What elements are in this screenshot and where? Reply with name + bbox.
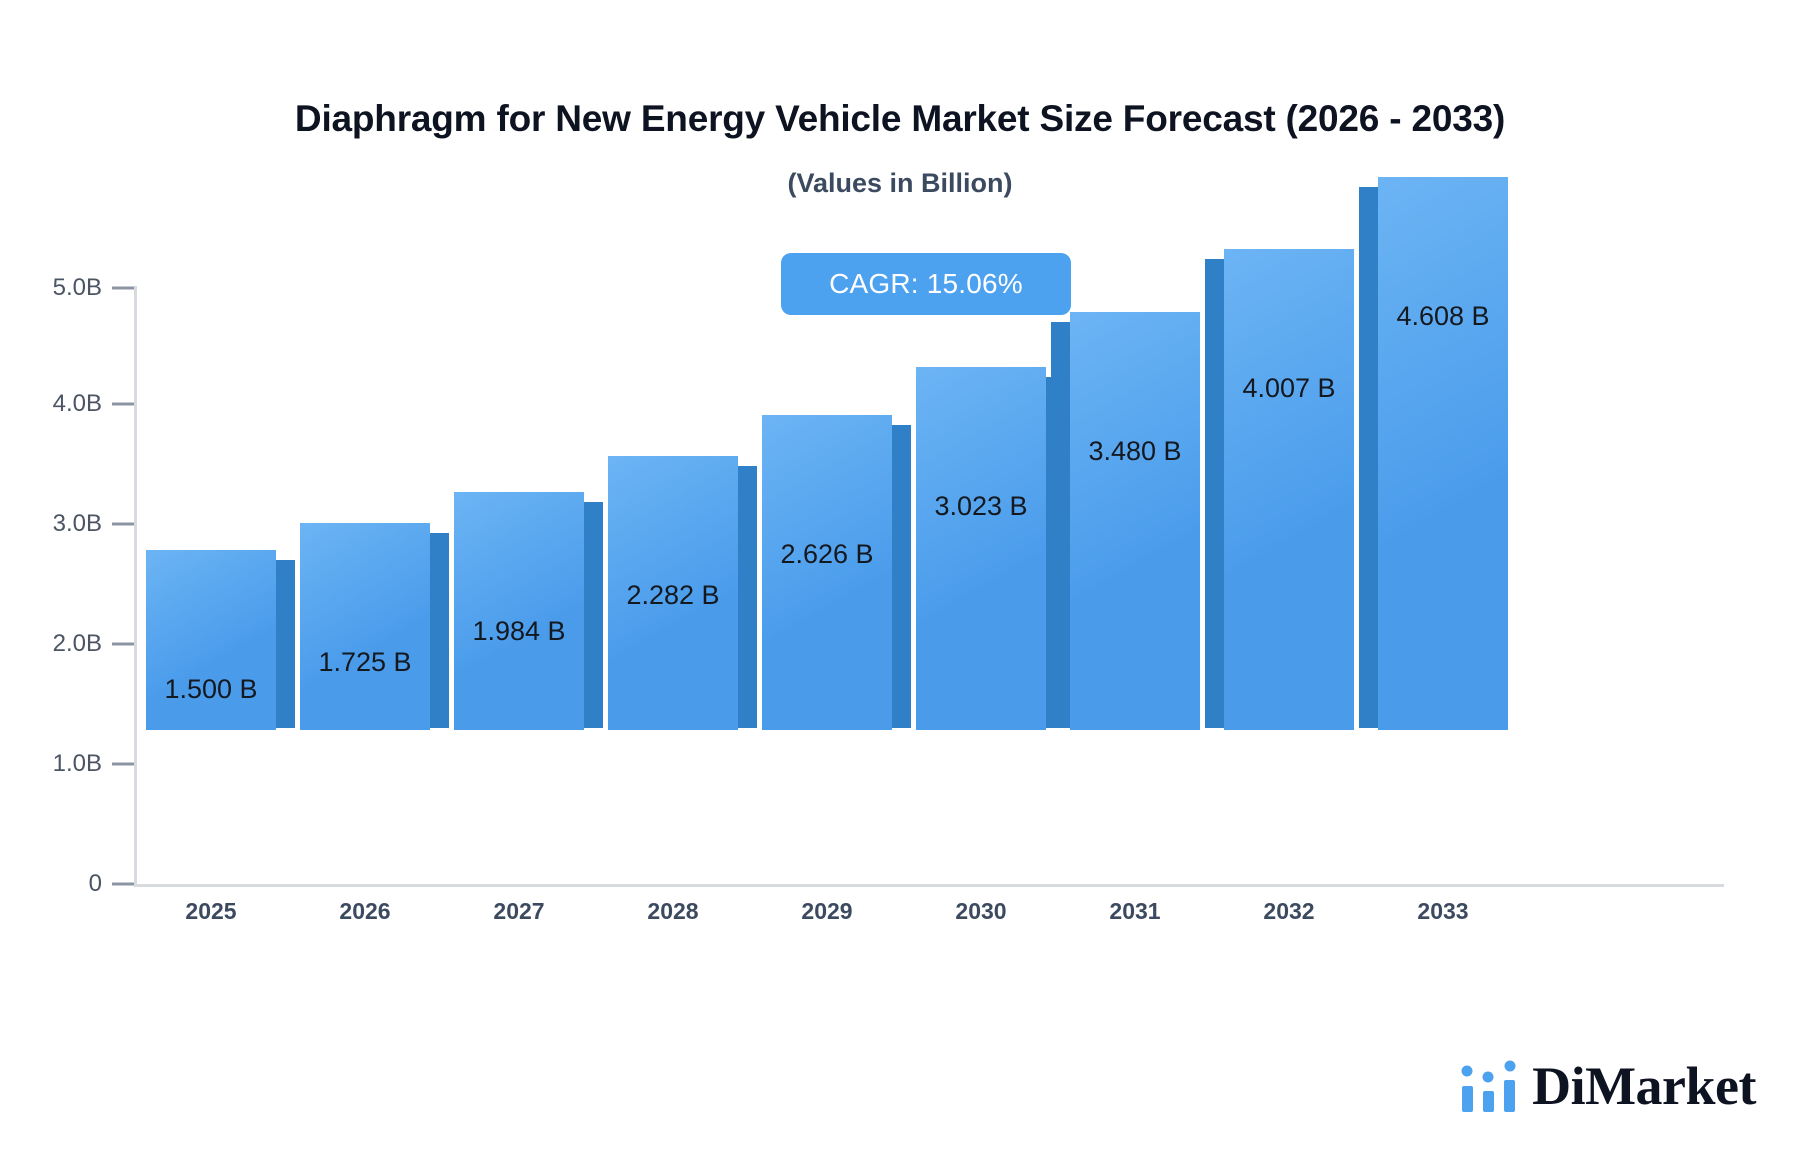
bar-value-2027: 1.984 B <box>419 616 619 647</box>
y-tick-label-3: 3.0B <box>16 510 102 538</box>
y-tick-dash-4 <box>112 403 134 406</box>
x-axis-line <box>134 884 1724 887</box>
y-tick-dash-1 <box>112 763 134 766</box>
bar-2033[interactable] <box>1378 177 1508 730</box>
bar-side-2027 <box>584 502 603 728</box>
x-tick-label-2033: 2033 <box>1343 898 1543 925</box>
y-axis-line <box>134 286 137 886</box>
y-tick-label-2: 2.0B <box>16 630 102 658</box>
y-tick-dash-0 <box>112 883 134 886</box>
bar-2032[interactable] <box>1224 249 1354 730</box>
bar-2027[interactable] <box>454 492 584 730</box>
bar-side-2029 <box>892 425 911 728</box>
brand-name: DiMarket <box>1532 1061 1756 1112</box>
bar-value-2028: 2.282 B <box>573 580 773 611</box>
bar-2029[interactable] <box>762 415 892 730</box>
bar-side-2032 <box>1205 259 1224 728</box>
bar-2031[interactable] <box>1070 312 1200 730</box>
y-tick-label-1: 1.0B <box>16 750 102 778</box>
chart-plot-area: 0 1.0B 2.0B 3.0B 4.0B 5.0B 1.500 B 2025 … <box>0 0 1800 1000</box>
bar-2026[interactable] <box>300 523 430 730</box>
bar-chart-icon <box>1460 1060 1518 1112</box>
brand-logo: DiMarket <box>1460 1060 1756 1112</box>
y-tick-dash-3 <box>112 523 134 526</box>
bar-value-2026: 1.725 B <box>265 647 465 678</box>
y-tick-label-5: 5.0B <box>16 274 102 302</box>
y-tick-label-4: 4.0B <box>16 390 102 418</box>
bar-2030[interactable] <box>916 367 1046 730</box>
y-tick-dash-5 <box>112 287 134 290</box>
bar-value-2025: 1.500 B <box>111 674 311 705</box>
y-tick-dash-2 <box>112 643 134 646</box>
bar-value-2033: 4.608 B <box>1343 301 1543 332</box>
bar-side-2033 <box>1359 187 1378 728</box>
bar-side-2031 <box>1051 322 1070 728</box>
y-tick-label-0: 0 <box>16 870 102 898</box>
bar-value-2029: 2.626 B <box>727 539 927 570</box>
